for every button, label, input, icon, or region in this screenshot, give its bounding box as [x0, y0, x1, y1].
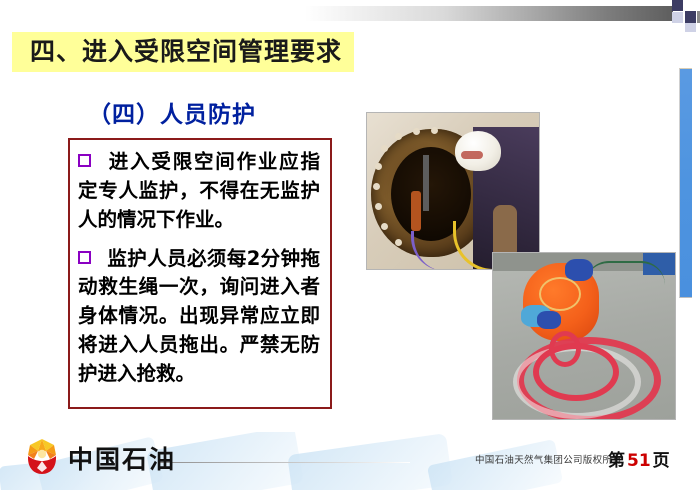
- photo-detail: [413, 128, 420, 135]
- body-paragraph: 进入受限空间作业应指定专人监护，不得在无监护人的情况下作业。: [78, 148, 320, 235]
- checker-square: [676, 23, 685, 32]
- slide-canvas: 四、进入受限空间管理要求 （四）人员防护 进入受限空间作业应指定专人监护，不得在…: [0, 0, 700, 490]
- page-number-prefix: 第: [608, 451, 625, 471]
- photo-detail: [373, 183, 380, 190]
- photo-detail: [423, 155, 429, 211]
- body-paragraph-text: 进入受限空间作业应指定专人监护，不得在无监护人的情况下作业。: [78, 150, 320, 231]
- body-text-box: 进入受限空间作业应指定专人监护，不得在无监护人的情况下作业。 监护人员必须每2分…: [68, 138, 332, 409]
- photo-detail: [461, 151, 483, 159]
- page-title-text: 四、进入受限空间管理要求: [12, 32, 354, 72]
- photo-detail: [549, 331, 581, 367]
- photo-worker-inspecting-confined-space-manway: [366, 112, 540, 270]
- page-title: 四、进入受限空间管理要求: [12, 32, 354, 72]
- checker-square: [672, 0, 683, 11]
- photo-detail: [395, 239, 402, 246]
- square-bullet-icon: [78, 154, 91, 167]
- checker-square: [685, 23, 696, 32]
- checker-square: [672, 12, 683, 23]
- photo-safety-harness-and-lifeline: [492, 252, 676, 420]
- checker-decoration: [656, 0, 700, 32]
- footer-divider: [160, 462, 410, 463]
- petrochina-sunburst-logo-icon: [20, 437, 64, 477]
- photo-detail: [381, 223, 388, 230]
- checker-square: [685, 11, 696, 23]
- photo-detail: [585, 261, 665, 285]
- logo-company-name: 中国石油: [68, 440, 176, 476]
- footer-copyright: 中国石油天然气集团公司版权所有: [475, 452, 622, 466]
- section-heading: （四）人员防护: [88, 95, 256, 129]
- photo-detail: [539, 277, 581, 311]
- photo-detail: [537, 311, 561, 329]
- top-gradient-bar: [305, 6, 673, 21]
- photo-detail: [375, 203, 382, 210]
- page-number-suffix: 页: [653, 451, 670, 471]
- photo-detail: [375, 163, 382, 170]
- body-paragraph-text: 监护人员必须每2分钟拖动救生绳一次，询问进入者身体情况。出现异常应立即将进入人员…: [78, 247, 320, 385]
- photo-detail: [411, 231, 454, 270]
- photo-detail: [565, 259, 593, 281]
- photo-detail: [431, 127, 438, 134]
- right-accent-bar: [679, 68, 692, 298]
- page-number: 第51页: [608, 446, 670, 471]
- body-paragraph: 监护人员必须每2分钟拖动救生绳一次，询问进入者身体情况。出现异常应立即将进入人员…: [78, 245, 320, 389]
- square-bullet-icon: [78, 251, 91, 264]
- photo-detail: [411, 191, 421, 231]
- checker-square: [686, 0, 697, 11]
- photo-detail: [395, 133, 402, 140]
- page-number-value: 51: [625, 451, 653, 471]
- photo-detail: [381, 145, 388, 152]
